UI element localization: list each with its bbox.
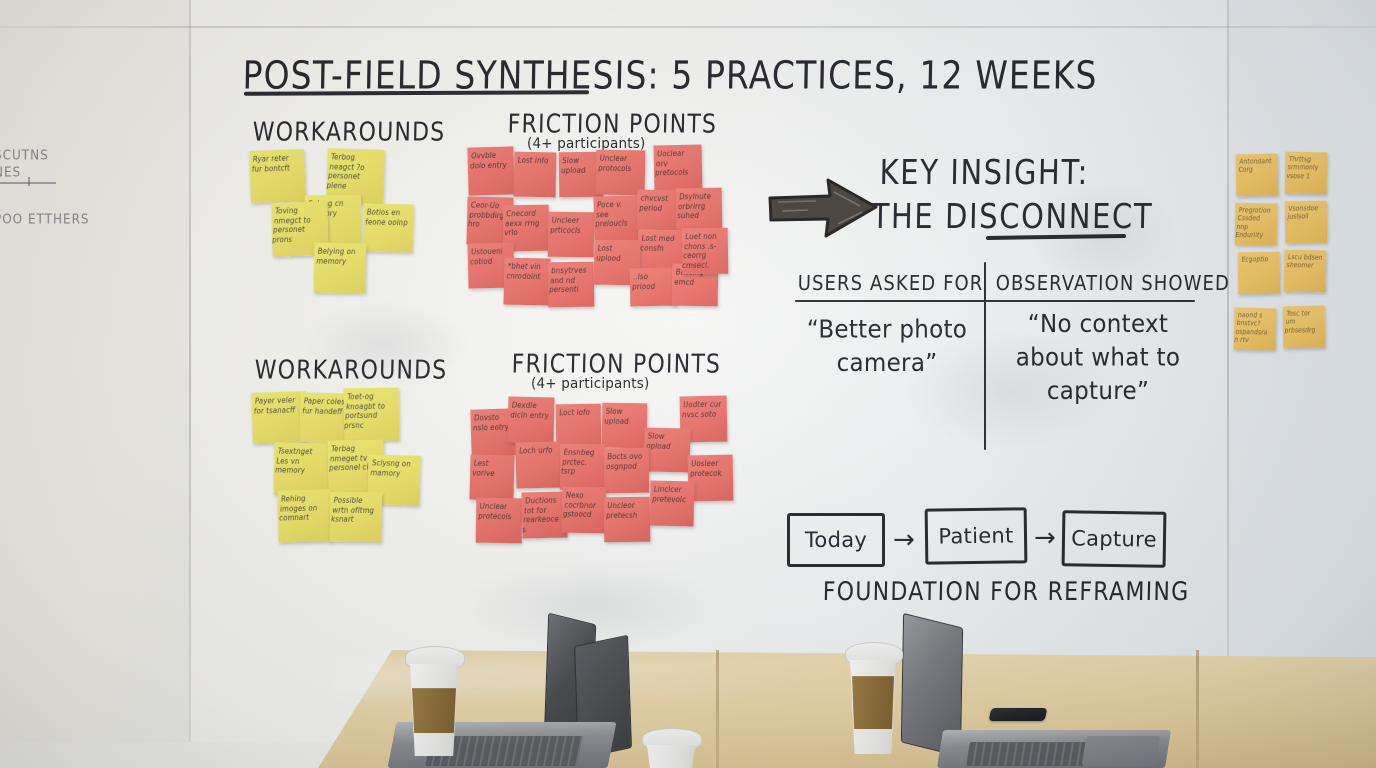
sticky-note-friction[interactable]: Uncleor pretecsh — [604, 497, 651, 543]
sticky-note-text: Toving nmegct to personet prons — [272, 205, 325, 244]
sticky-note-text: bnsytrves and nd persenti — [549, 266, 591, 295]
sticky-note-text: Uncleer prticocls — [550, 216, 592, 235]
edge-note-line-3: POO ETTHERS — [0, 211, 90, 227]
sticky-note-friction[interactable]: bnsytrves and nd persenti — [548, 262, 595, 308]
sticky-note-workaround[interactable]: Rehing imoges on comnart — [277, 489, 331, 542]
sticky-note-friction[interactable]: Linclcer pretevolc — [649, 481, 694, 527]
sticky-note-theme[interactable]: Ecgoptio — [1238, 252, 1280, 294]
sticky-note-text: Ductions tot for rearkeoces — [522, 496, 564, 535]
laptop-right-trackpad — [1082, 736, 1161, 766]
sticky-note-text: Slow upload — [561, 156, 600, 176]
desk-seam — [1196, 650, 1199, 768]
sticky-note-friction[interactable]: Ovvble dolo entry — [467, 146, 514, 195]
sticky-note-text: Antondant Corg — [1238, 158, 1275, 175]
big-arrow-icon — [768, 172, 880, 244]
sticky-note-theme[interactable]: Thrttsg srmmonly vsose 1 — [1285, 152, 1328, 195]
sticky-note-friction[interactable]: Lest vorive — [469, 454, 514, 500]
sticky-note-friction[interactable]: Luet non chons .s- ceorrg cmsecl. — [682, 228, 729, 275]
sticky-note-text: Linclcer pretevolc — [652, 485, 692, 505]
cup-body — [647, 745, 695, 768]
column-header-users-asked: USERS ASKED FOR — [798, 272, 984, 296]
column-divider — [984, 262, 986, 450]
flow-step-patient: Patient — [925, 507, 1028, 564]
sticky-note-friction[interactable]: Ensnbeg prctec. tsrp — [560, 444, 606, 491]
sticky-note-workaround[interactable]: Ryar reter fur bontcft — [249, 149, 306, 203]
flow-step-capture: Capture — [1062, 510, 1167, 568]
section-heading-workarounds-bottom: WORKAROUNDS — [254, 356, 447, 386]
sticky-note-friction[interactable]: Uosleer protecok — [688, 455, 734, 502]
sticky-note-workaround[interactable]: Payer veler for tsanacff — [251, 391, 307, 444]
whiteboard-photo: SCUTNS NES POO ETTHERS POST-FIELD SYNTHE… — [0, 0, 1376, 768]
coffee-cup-center — [642, 728, 700, 768]
key-insight-line-2: THE DISCONNECT — [871, 196, 1153, 236]
sticky-note-friction[interactable]: Loch urfo — [515, 441, 561, 488]
edge-tick — [28, 177, 30, 186]
sticky-note-friction[interactable]: *bhet vin cnrodoint — [503, 257, 550, 305]
panel-seam-left — [189, 0, 191, 742]
sticky-note-text: Ryar reter fur bontcft — [252, 153, 302, 174]
sticky-note-text: Ecgoptio — [1241, 256, 1277, 265]
sticky-note-workaround[interactable]: Possible wrtn ofltmg ksnart — [330, 492, 383, 543]
sticky-note-friction[interactable]: Unclear protecols — [476, 498, 523, 544]
coffee-cup-right — [845, 642, 901, 754]
sticky-note-text: Tsextnget Les vn memory — [274, 447, 326, 476]
sticky-note-friction[interactable]: Loct iofo — [556, 404, 602, 450]
sticky-note-friction[interactable]: Unclear protocols — [596, 150, 646, 196]
sticky-note-text: Belying on memory — [316, 247, 364, 267]
sticky-note-friction[interactable]: Dexdle dicln entry — [508, 397, 555, 444]
sticky-note-text: *bhet vin cnrodoint — [506, 262, 548, 282]
sticky-note-text: Toet-og knoagbt to portsund prsnc — [344, 392, 396, 431]
sticky-note-text: Ensnbeg prctec. tsrp — [560, 448, 602, 477]
section-sub-friction-bottom: (4+ participants) — [531, 376, 649, 393]
quote-observation: “No context about what to capture” — [1000, 308, 1196, 408]
section-heading-workarounds-top: WORKAROUNDS — [252, 118, 445, 148]
sticky-note-friction[interactable]: chvcvst period — [637, 190, 682, 231]
panel-seam-right — [1227, 0, 1229, 742]
coffee-cup-left — [404, 646, 464, 756]
sticky-note-theme[interactable]: Antondant Corg — [1236, 154, 1279, 197]
sticky-note-text: chvcvst period — [639, 194, 679, 214]
key-insight-prefix: THE — [871, 196, 945, 236]
sticky-note-workaround[interactable]: Belying on memory — [314, 243, 367, 294]
sticky-note-text: Bocts ovo osgnpod — [606, 452, 646, 472]
sticky-note-text: Lest vorive — [472, 459, 512, 479]
board-title-tail: 5 PRACTICES, 12 WEEKS — [659, 52, 1098, 98]
sticky-note-text: Vsonsdoe juslsoll — [1287, 205, 1324, 222]
sticky-note-text: Slow upload — [604, 407, 645, 427]
key-insight-line-1: KEY INSIGHT: — [879, 152, 1089, 192]
edge-note-line-2: NES — [0, 164, 21, 180]
sticky-note-text: Lost info — [517, 156, 553, 166]
sticky-note-text: Loch urfo — [519, 446, 558, 456]
sticky-note-text: Lscu bdsen sheomer — [1286, 254, 1323, 271]
sticky-note-theme[interactable]: Pregrotion Cssded nnp Enduriity — [1235, 203, 1278, 246]
sticky-note-text: Botios en feone oolnp — [365, 208, 411, 228]
sticky-note-friction[interactable]: Poce v. see preloucls — [593, 195, 639, 243]
sticky-note-friction[interactable]: Nexo cocrbnor gstoocd — [562, 487, 607, 534]
sticky-note-text: Luet non chons .s- ceorrg cmsecl. — [682, 232, 725, 271]
sticky-note-text: Cnecord aexx rrng vrlo — [504, 209, 546, 238]
sticky-note-theme[interactable]: Vsonsdoe juslsoll — [1285, 201, 1328, 244]
sticky-note-text: Dsylnute orbrirrg suhed — [677, 192, 719, 221]
sticky-note-text: Unclear protecols — [478, 502, 520, 522]
phone — [989, 708, 1048, 721]
sticky-note-text: Uoclear orv pretocols — [655, 149, 699, 179]
sticky-note-friction[interactable]: Uncleer prticocls — [548, 212, 595, 258]
sticky-note-text: Thrttsg srmmonly vsose 1 — [1286, 156, 1324, 181]
sticky-note-text: naond s bnstvc? ospandsran rtv — [1234, 312, 1274, 346]
column-header-observation: OBSERVATION SHOWED — [996, 272, 1231, 296]
sticky-note-workaround[interactable]: Botios en feone oolnp — [363, 204, 414, 253]
sticky-note-friction[interactable]: Bocts ovo osgnpod — [604, 448, 650, 494]
flow-caption: FOUNDATION FOR REFRAMING — [822, 578, 1189, 607]
sticky-note-friction[interactable]: Slow opload — [643, 427, 690, 472]
sticky-note-friction[interactable]: Lost info — [514, 152, 557, 198]
sticky-note-text: Ovvble dolo entry — [470, 150, 511, 170]
sticky-note-text: Sclysng on mamory — [370, 458, 418, 478]
sticky-note-text: Slow opload — [646, 432, 688, 452]
sticky-note-text: Dexdle dicln entry — [510, 401, 552, 421]
sticky-note-text: Lost med consfn — [640, 234, 684, 254]
sticky-note-friction[interactable]: ..lso priood — [630, 268, 677, 307]
sticky-note-text: Possible wrtn ofltmg ksnart — [330, 496, 379, 525]
sticky-note-workaround[interactable]: Tsextnget Les vn memory — [274, 443, 330, 496]
sticky-note-text: Loct iofo — [559, 408, 598, 418]
whiteboard-panel-left — [0, 0, 190, 742]
sticky-note-text: Lost uplood — [596, 244, 638, 264]
sticky-note-text: Payer veler for tsanacff — [254, 395, 303, 416]
sticky-note-text: ..lso priood — [632, 272, 673, 292]
sticky-note-text: Uodter cur nvsc soto — [682, 400, 724, 420]
sticky-note-friction[interactable]: Uoclear orv pretocols — [653, 144, 702, 192]
sticky-note-text: Poce v. see preloucls — [595, 199, 636, 229]
sticky-note-workaround[interactable]: Toet-og knoagbt to portsund prsnc — [344, 388, 400, 442]
edge-note-line-1: SCUTNS — [0, 147, 49, 163]
laptop-right-keyboard — [966, 742, 1090, 766]
sticky-note-text: Uncleor pretecsh — [606, 501, 647, 521]
sticky-note-friction[interactable]: Slow upload — [602, 403, 648, 449]
cup-sleeve — [412, 688, 456, 733]
sticky-note-text: Tosc tor um prbsesdrg — [1284, 310, 1322, 335]
whiteboard-panel-right — [1228, 0, 1376, 742]
sticky-note-theme[interactable]: Tosc tor um prbsesdrg — [1283, 306, 1326, 349]
key-insight-disconnect: DISCONNECT — [945, 196, 1154, 236]
cup-sleeve — [852, 676, 894, 729]
flow-arrow-1-icon: → — [893, 527, 915, 553]
flow-step-today: Today — [787, 513, 885, 567]
sticky-note-theme[interactable]: naond s bnstvc? ospandsran rtv — [1233, 307, 1276, 350]
flow-arrow-2-icon: → — [1034, 525, 1056, 551]
quote-users-asked: “Better photo camera” — [798, 314, 976, 381]
sticky-note-theme[interactable]: Lscu bdsen sheomer — [1284, 250, 1327, 293]
sticky-note-text: Unclear protocols — [598, 154, 643, 174]
sticky-note-text: Uosleer protecok — [690, 459, 730, 479]
sticky-note-text: Rehing imoges on comnart — [279, 493, 328, 523]
sticky-note-text: Pregrotion Cssded nnp Enduriity — [1235, 207, 1275, 241]
sticky-note-text: Nexo cocrbnor gstoocd — [562, 491, 603, 520]
sticky-note-text: Terbog neagct ?o personet plene — [326, 152, 381, 191]
panel-seam-top — [0, 26, 1376, 28]
